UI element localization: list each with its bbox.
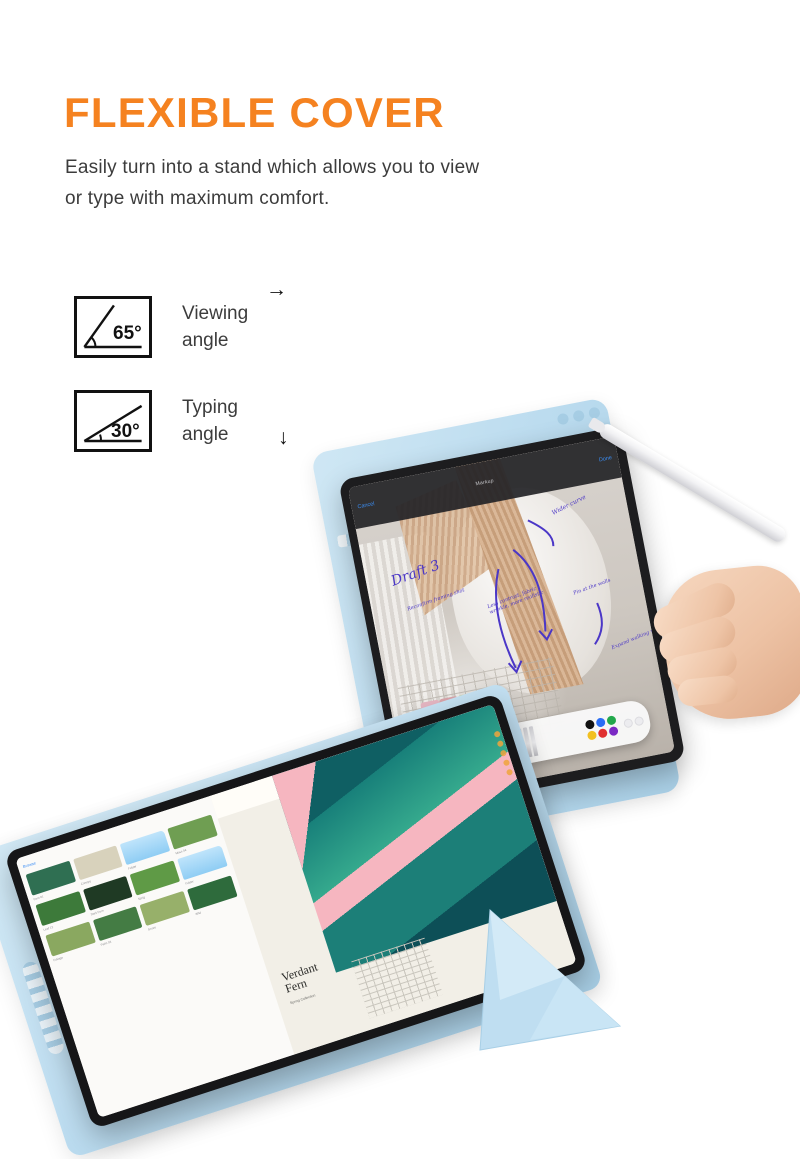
- swatch-red[interactable]: [598, 728, 609, 739]
- color-swatches[interactable]: [585, 715, 619, 741]
- document-title: Verdant Fern Spring Collection: [280, 961, 328, 1010]
- markup-title: Markup: [475, 478, 494, 487]
- swatch-black[interactable]: [585, 719, 596, 730]
- lower-stand-fold: [470, 900, 670, 1080]
- subtitle-line-1: Easily turn into a stand which allows yo…: [65, 157, 479, 178]
- done-button[interactable]: Done: [598, 455, 612, 463]
- product-feature-page: FLEXIBLE COVER Easily turn into a stand …: [0, 0, 800, 1000]
- browse-label[interactable]: Browse: [22, 860, 36, 869]
- product-photo: Draft 3 Reconfirm framing shot Wider cur…: [0, 200, 800, 1000]
- swatch-purple[interactable]: [608, 726, 619, 737]
- hand-holding-stylus: [618, 521, 800, 749]
- page-title: FLEXIBLE COVER: [64, 92, 445, 134]
- thumbnail-grid[interactable]: Fern 01 Canopy Folder Moss 04 Le: [26, 815, 240, 963]
- swatch-blue[interactable]: [595, 717, 606, 728]
- swatch-green[interactable]: [606, 715, 617, 726]
- cancel-button[interactable]: Cancel: [357, 501, 375, 510]
- swatch-yellow[interactable]: [587, 730, 598, 741]
